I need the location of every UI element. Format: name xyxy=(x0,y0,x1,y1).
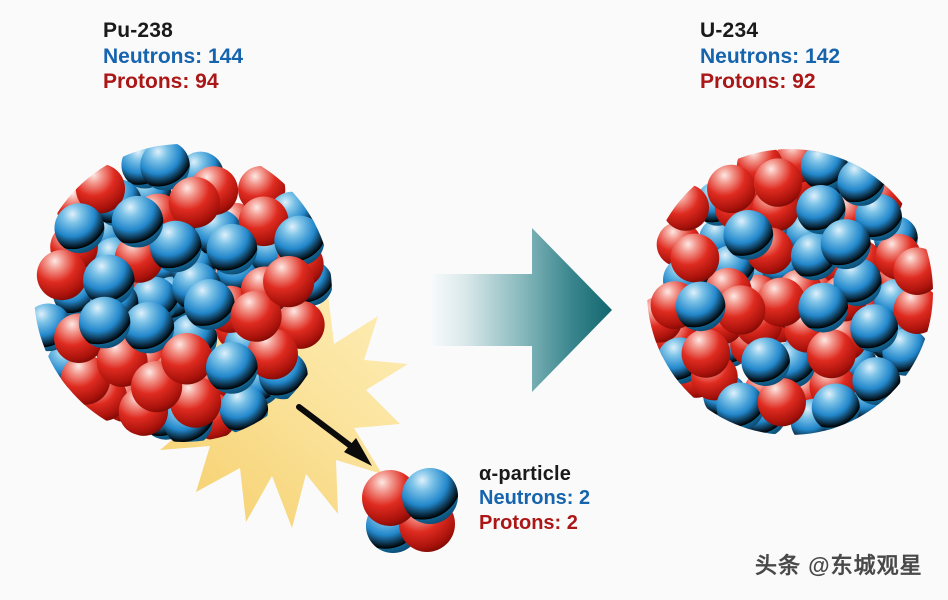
proton-sphere xyxy=(662,184,709,231)
proton-sphere xyxy=(682,329,731,378)
proton-sphere xyxy=(754,158,802,206)
proton-sphere xyxy=(670,234,719,283)
neutron-sphere xyxy=(716,383,764,431)
neutron-sphere xyxy=(112,196,164,248)
watermark-text: 头条 @东城观星 xyxy=(755,548,923,580)
daughter-isotope-label-block: U-234 Neutrons: 142 Protons: 92 xyxy=(700,18,840,95)
alpha-decay-diagram: Pu-238 Neutrons: 144 Protons: 94 U-234 N… xyxy=(0,0,948,600)
neutron-sphere xyxy=(852,357,900,405)
neutron-sphere xyxy=(723,210,773,260)
neutron-sphere xyxy=(837,159,884,206)
neutron-sphere xyxy=(798,283,848,333)
proton-sphere xyxy=(263,256,314,307)
alpha-particle-label-block: α-particle Neutrons: 2 Protons: 2 xyxy=(479,462,590,535)
alpha-protons-count: Protons: 2 xyxy=(479,511,590,535)
neutron-sphere xyxy=(850,304,898,352)
proton-sphere xyxy=(707,165,755,213)
alpha-neutrons-count: Neutrons: 2 xyxy=(479,486,590,510)
parent-protons-count: Protons: 94 xyxy=(103,69,243,95)
proton-sphere xyxy=(893,247,941,295)
parent-isotope-label-block: Pu-238 Neutrons: 144 Protons: 94 xyxy=(103,18,243,95)
daughter-nucleus-sphere-cluster xyxy=(646,148,934,436)
parent-neutrons-count: Neutrons: 144 xyxy=(103,44,243,70)
alpha-particle-cluster-icon xyxy=(359,466,463,558)
neutron-sphere xyxy=(79,297,131,349)
proton-sphere xyxy=(807,329,856,378)
neutron-sphere xyxy=(821,219,871,269)
neutron-sphere xyxy=(676,282,726,332)
right-arrow-icon xyxy=(432,226,614,394)
daughter-neutrons-count: Neutrons: 142 xyxy=(700,44,840,70)
parent-isotope-name: Pu-238 xyxy=(103,18,243,44)
neutron-sphere xyxy=(207,224,258,275)
proton-sphere xyxy=(161,333,212,384)
emission-arrow-icon xyxy=(294,402,380,476)
neutron-sphere xyxy=(741,338,789,386)
alpha-particle-name: α-particle xyxy=(479,462,590,486)
daughter-protons-count: Protons: 92 xyxy=(700,69,840,95)
neutron-sphere xyxy=(812,383,860,431)
daughter-isotope-name: U-234 xyxy=(700,18,840,44)
proton-sphere xyxy=(37,250,87,300)
proton-sphere xyxy=(169,177,220,228)
neutron-sphere xyxy=(206,342,258,394)
neutron-sphere xyxy=(184,279,235,330)
parent-nucleus-sphere-cluster xyxy=(33,143,333,443)
neutron-sphere xyxy=(54,203,104,253)
